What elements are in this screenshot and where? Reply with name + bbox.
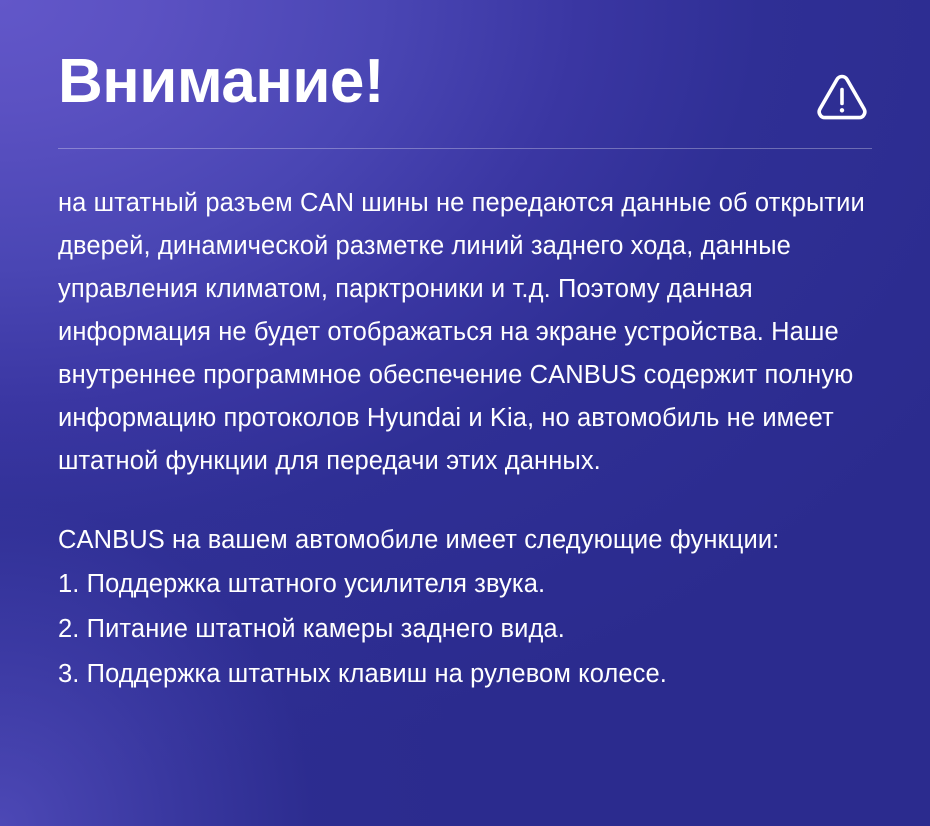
functions-block: CANBUS на вашем автомобиле имеет следующ… [58, 519, 872, 697]
functions-list: 1. Поддержка штатного усилителя звука. 2… [58, 562, 872, 697]
list-item: 2. Питание штатной камеры заднего вида. [58, 607, 872, 652]
header-divider [58, 148, 872, 149]
warning-triangle-icon [814, 68, 870, 124]
page-title: Внимание! [58, 50, 384, 114]
functions-intro: CANBUS на вашем автомобиле имеет следующ… [58, 519, 872, 562]
notice-paragraph: на штатный разъем CAN шины не передаются… [58, 182, 872, 483]
warning-banner: Внимание! на штатный разъем CAN шины не … [0, 0, 930, 826]
notice-block: на штатный разъем CAN шины не передаются… [58, 182, 872, 483]
banner-content: Внимание! на штатный разъем CAN шины не … [0, 0, 930, 826]
banner-header: Внимание! [58, 0, 872, 124]
list-item: 1. Поддержка штатного усилителя звука. [58, 562, 872, 607]
list-item: 3. Поддержка штатных клавиш на рулевом к… [58, 652, 872, 697]
